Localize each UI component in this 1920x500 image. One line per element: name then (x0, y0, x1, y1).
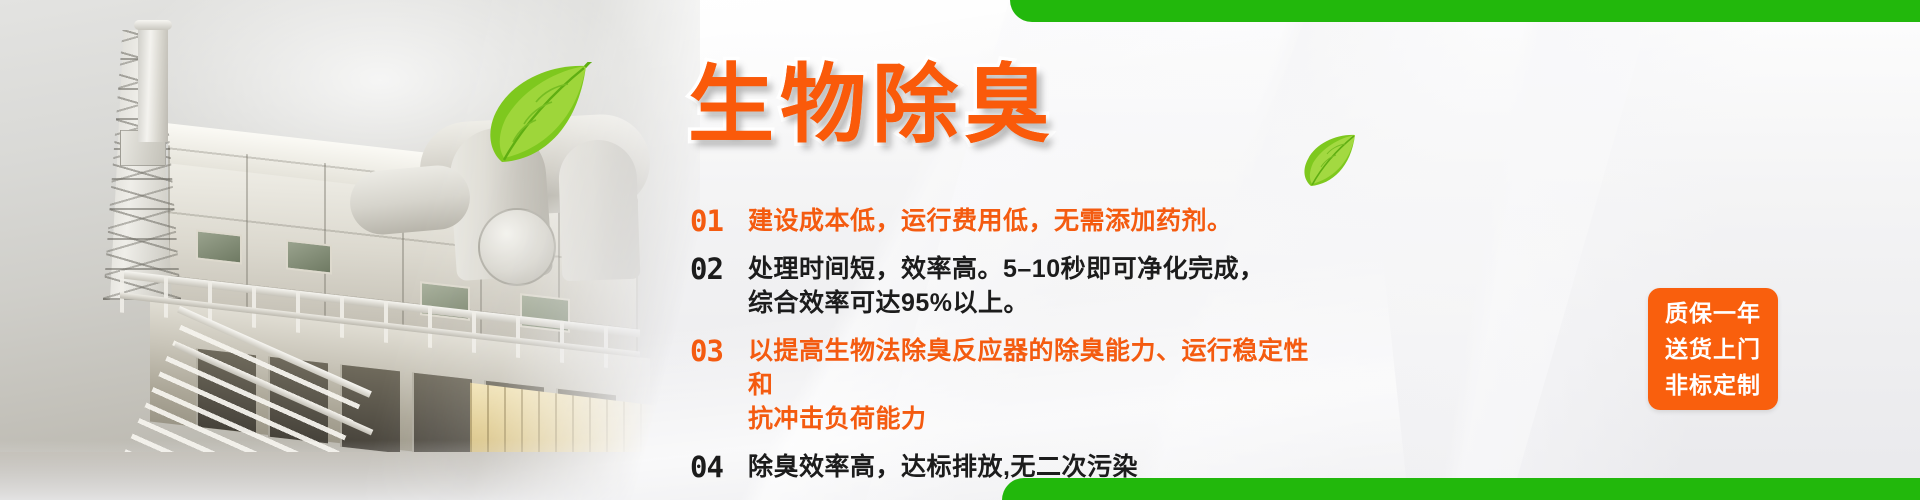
photo-inspection-hatch (478, 208, 556, 286)
bullet-line: 除臭效率高，达标排放,无二次污染 (748, 453, 1138, 481)
photo-window (286, 239, 332, 274)
guarantee-badge: 质保一年 送货上门 非标定制 (1648, 288, 1778, 410)
leaf-icon (482, 62, 592, 167)
bullet-line: 抗冲击负荷能力 (748, 402, 1330, 436)
page-title-fill: 生物除臭 (688, 62, 1056, 148)
bullet-text: 处理时间短，效率高。5–10秒即可净化完成， 综合效率可达95%以上。 (748, 252, 1265, 320)
badge-line-delivery: 送货上门 (1665, 331, 1761, 367)
photo-stack-cap (134, 20, 172, 30)
feature-list: 01 建设成本低，运行费用低，无需添加药剂。 02 处理时间短，效率高。5–10… (690, 204, 1330, 498)
photo-window (196, 229, 242, 264)
bullet-line: 综合效率可达95%以上。 (748, 286, 1265, 320)
photo-stack-pipe (138, 22, 168, 142)
list-item: 03 以提高生物法除臭反应器的除臭能力、运行稳定性和 抗冲击负荷能力 (690, 334, 1330, 436)
photo-ground-fade (0, 440, 700, 500)
leaf-icon (1300, 132, 1358, 188)
promo-banner: 生物除臭 生物除臭 01 建设成本低，运行费用低，无需添加药剂。 02 处理时间… (0, 0, 1920, 500)
bullet-line: 处理时间短，效率高。5–10秒即可净化完成， (748, 252, 1265, 286)
list-item: 01 建设成本低，运行费用低，无需添加药剂。 (690, 204, 1330, 238)
bullet-line: 以提高生物法除臭反应器的除臭能力、运行稳定性和 (748, 334, 1330, 402)
bullet-number: 01 (690, 204, 748, 238)
badge-line-warranty: 质保一年 (1665, 295, 1761, 331)
list-item: 04 除臭效率高，达标排放,无二次污染 (690, 450, 1330, 484)
bullet-text: 以提高生物法除臭反应器的除臭能力、运行稳定性和 抗冲击负荷能力 (748, 334, 1330, 436)
bullet-line: 建设成本低，运行费用低，无需添加药剂。 (748, 207, 1233, 235)
bullet-number: 04 (690, 450, 748, 484)
bullet-text: 除臭效率高，达标排放,无二次污染 (748, 450, 1138, 484)
bullet-number: 02 (690, 252, 748, 286)
equipment-photo (0, 0, 700, 500)
green-accent-bar-top (1010, 0, 1920, 22)
bullet-number: 03 (690, 334, 748, 368)
badge-line-custom: 非标定制 (1665, 367, 1761, 403)
list-item: 02 处理时间短，效率高。5–10秒即可净化完成， 综合效率可达95%以上。 (690, 252, 1330, 320)
bullet-text: 建设成本低，运行费用低，无需添加药剂。 (748, 204, 1233, 238)
